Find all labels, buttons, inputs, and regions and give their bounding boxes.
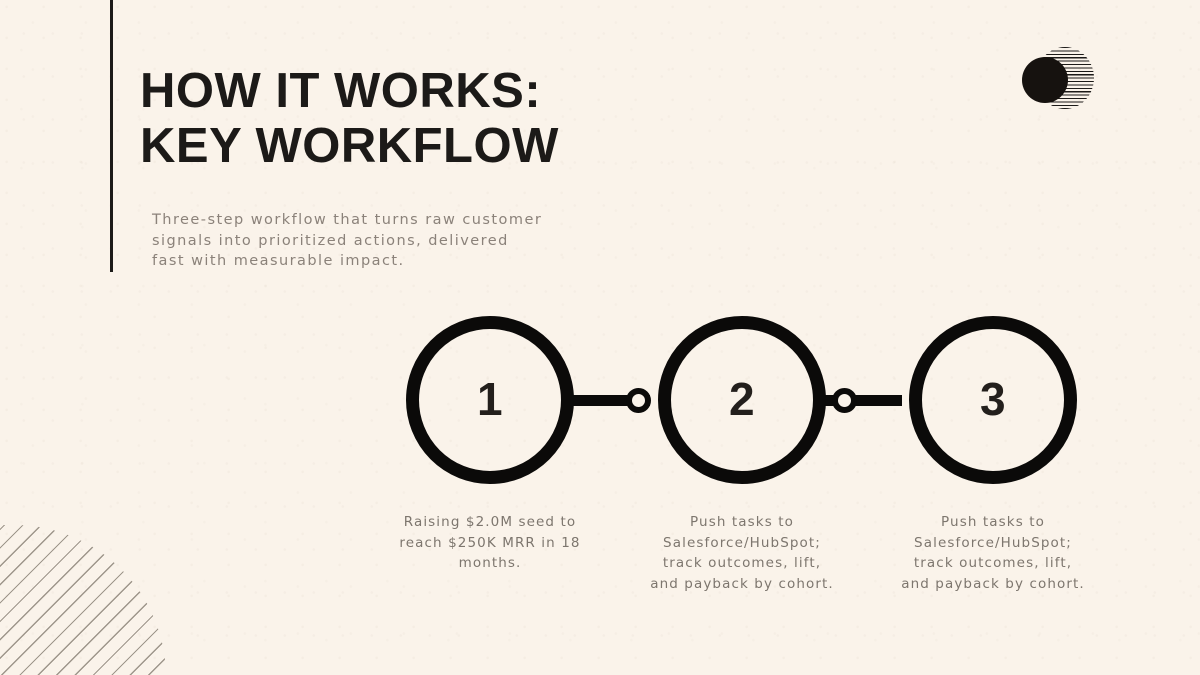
step-number-1: 1 bbox=[477, 376, 503, 422]
slide-canvas: HOW IT WORKS: KEY WORKFLOW Three-step wo… bbox=[0, 0, 1200, 675]
workflow-diagram: 1 2 3 bbox=[0, 316, 1200, 486]
step-caption-2: Push tasks to Salesforce/HubSpot; track … bbox=[649, 512, 835, 594]
step-caption-1: Raising $2.0M seed to reach $250K MRR in… bbox=[397, 512, 583, 574]
title-line-1: HOW IT WORKS: bbox=[140, 64, 780, 119]
connector-joint-2 bbox=[832, 388, 857, 413]
solid-dot-icon bbox=[1022, 57, 1068, 103]
subtitle-line-2: signals into prioritized actions, delive… bbox=[152, 231, 592, 252]
subtitle-line-3: fast with measurable impact. bbox=[152, 251, 592, 272]
step-number-2: 2 bbox=[729, 376, 755, 422]
striped-circle-decoration-icon bbox=[1022, 47, 1084, 109]
step-caption-3: Push tasks to Salesforce/HubSpot; track … bbox=[900, 512, 1086, 594]
connector-joint-1 bbox=[626, 388, 651, 413]
step-node-3[interactable]: 3 bbox=[909, 316, 1077, 484]
step-number-3: 3 bbox=[980, 376, 1006, 422]
vertical-accent-line bbox=[110, 0, 113, 272]
step-node-1[interactable]: 1 bbox=[406, 316, 574, 484]
subtitle-line-1: Three-step workflow that turns raw custo… bbox=[152, 210, 592, 231]
title-line-2: KEY WORKFLOW bbox=[140, 119, 780, 174]
step-captions: Raising $2.0M seed to reach $250K MRR in… bbox=[0, 512, 1200, 652]
subtitle: Three-step workflow that turns raw custo… bbox=[152, 210, 592, 272]
step-node-2[interactable]: 2 bbox=[658, 316, 826, 484]
page-title: HOW IT WORKS: KEY WORKFLOW bbox=[140, 64, 780, 174]
